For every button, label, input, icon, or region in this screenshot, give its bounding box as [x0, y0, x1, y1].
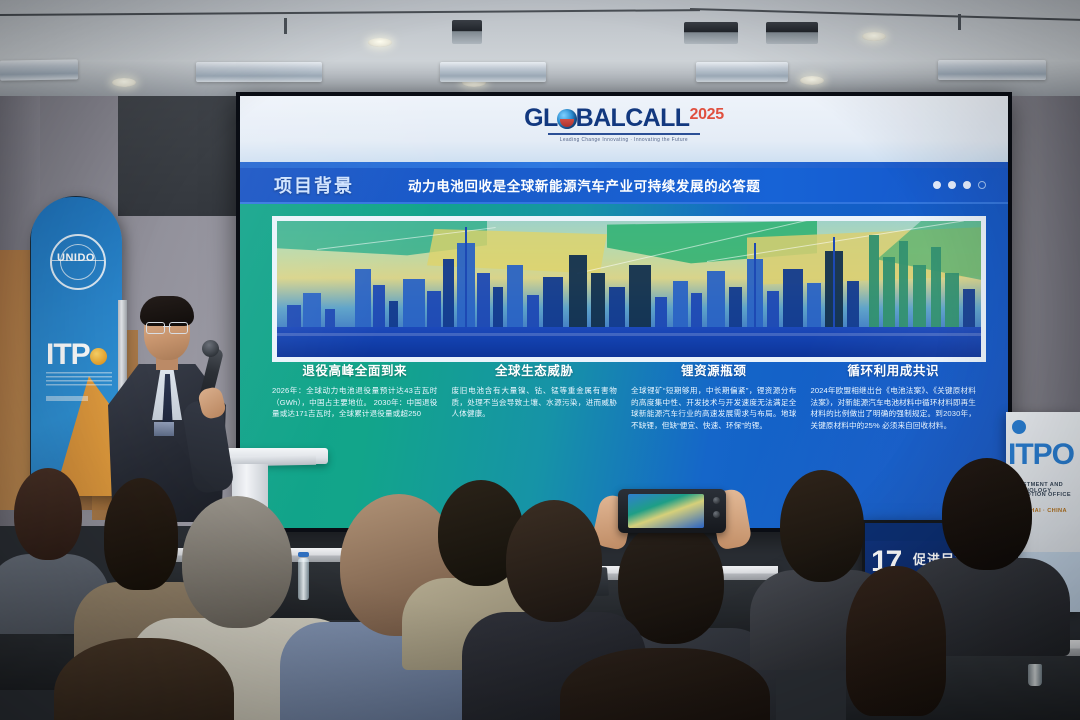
- audience-head: [14, 468, 82, 560]
- column-body: 2024年欧盟相继出台《电池法案》、《关键原材料法案》，对新能源汽车电池材料中循…: [807, 385, 981, 431]
- building: [507, 265, 523, 331]
- building: [609, 287, 625, 331]
- audience-head: [54, 638, 234, 720]
- drinking-glass: [1028, 664, 1042, 686]
- slide-headline: 动力电池回收是全球新能源汽车产业可持续发展的必答题: [408, 175, 761, 195]
- column-body: 全球锂矿“短期够用，中长期偏紧”，锂资源分布的高度集中性、开发技术与开发速度无法…: [627, 385, 801, 431]
- logo-text-right: BALCALL: [576, 106, 690, 131]
- phone-screen: [628, 494, 704, 528]
- air-vent: [0, 59, 78, 80]
- page-dot-1: [933, 181, 941, 189]
- spotlight-icon: [452, 20, 482, 44]
- building: [443, 259, 454, 331]
- antenna: [833, 237, 835, 331]
- slide-body: 退役高峰全面到来 2026年：全球动力电池退役量预计达43吉瓦时（GWh），中国…: [240, 204, 1008, 528]
- audience-head: [846, 566, 946, 716]
- column-heading: 退役高峰全面到来: [268, 360, 442, 379]
- presentation-screen: GLBALCALL2025 Leading Change Innovating …: [236, 92, 1012, 532]
- audience-head: [182, 496, 292, 628]
- glasses-icon: [146, 322, 188, 332]
- camera-lens-icon: [713, 497, 720, 504]
- city-skyline-illustration: [277, 221, 981, 357]
- globe-icon: [557, 109, 577, 129]
- building: [355, 269, 371, 331]
- column-body: 废旧电池含有大量镍、钴、锰等重金属有害物质，处理不当会导致土壤、水源污染，进而威…: [448, 385, 622, 420]
- pagination-dots: [933, 181, 986, 189]
- audience-member: [846, 566, 976, 720]
- air-vent: [196, 62, 322, 82]
- building: [527, 295, 539, 331]
- page-dot-4: [978, 181, 986, 189]
- antenna: [754, 243, 756, 331]
- spotlight-icon: [766, 22, 818, 44]
- downlight-icon: [368, 38, 392, 47]
- slide-columns: 退役高峰全面到来 2026年：全球动力电池退役量预计达43吉瓦时（GWh），中国…: [268, 360, 980, 431]
- slide: GLBALCALL2025 Leading Change Innovating …: [240, 96, 1008, 528]
- building: [767, 291, 779, 331]
- slide-column-1: 退役高峰全面到来 2026年：全球动力电池退役量预计达43吉瓦时（GWh），中国…: [268, 360, 442, 431]
- building: [427, 291, 441, 331]
- hero-image-frame: [272, 216, 986, 362]
- building: [543, 277, 563, 331]
- slide-title-bar: 项目背景 动力电池回收是全球新能源汽车产业可持续发展的必答题: [240, 168, 1008, 202]
- slide-column-2: 全球生态威胁 废旧电池含有大量镍、钴、锰等重金属有害物质，处理不当会导致土壤、水…: [448, 360, 622, 431]
- wall-dark-panel: [118, 96, 250, 216]
- audience-head: [560, 648, 770, 720]
- building: [847, 281, 859, 331]
- logo-rule: [548, 133, 700, 135]
- audience-member: [560, 648, 760, 720]
- antenna: [465, 227, 467, 331]
- building: [899, 241, 908, 331]
- building: [869, 235, 879, 331]
- spotlight-icon: [684, 22, 738, 44]
- slide-column-3: 锂资源瓶颈 全球锂矿“短期够用，中长期偏紧”，锂资源分布的高度集中性、开发技术与…: [627, 360, 801, 431]
- building: [707, 271, 725, 331]
- track-stub: [958, 14, 961, 30]
- building: [477, 273, 490, 331]
- column-body: 2026年：全球动力电池退役量预计达43吉瓦时（GWh），中国占主要地位。 20…: [268, 385, 442, 420]
- screenshot-stage: GLBALCALL2025 Leading Change Innovating …: [0, 0, 1080, 720]
- building: [691, 293, 702, 331]
- page-dot-3: [963, 181, 971, 189]
- page-dot-2: [948, 181, 956, 189]
- building: [783, 269, 803, 331]
- downlight-icon: [112, 78, 136, 87]
- building: [655, 297, 667, 331]
- building: [569, 255, 587, 331]
- downlight-icon: [800, 76, 824, 85]
- logo-text-left: GL: [524, 106, 558, 131]
- audience-head: [942, 458, 1032, 570]
- downlight-icon: [862, 32, 886, 41]
- building: [303, 293, 321, 331]
- building: [883, 257, 895, 331]
- building: [963, 289, 975, 331]
- building: [373, 285, 385, 331]
- slide-column-4: 循环利用成共识 2024年欧盟相继出台《电池法案》、《关键原材料法案》，对新能源…: [807, 360, 981, 431]
- building: [945, 273, 959, 331]
- building: [403, 279, 425, 331]
- itpo-dot-icon: [1012, 420, 1026, 434]
- camera-lens-icon: [713, 511, 720, 518]
- audience-head: [506, 500, 602, 622]
- building: [807, 283, 821, 331]
- building: [629, 265, 651, 331]
- air-vent: [938, 60, 1046, 80]
- building: [729, 287, 742, 331]
- building: [913, 265, 926, 331]
- building: [931, 247, 941, 331]
- column-heading: 循环利用成共识: [807, 360, 981, 379]
- city-foreground: [277, 327, 981, 357]
- track-stub: [284, 18, 287, 34]
- air-vent: [440, 62, 546, 82]
- slide-logo-band: GLBALCALL2025 Leading Change Innovating …: [240, 96, 1008, 162]
- speaker-badge: [154, 422, 174, 436]
- building: [673, 281, 688, 331]
- logo-year: 2025: [689, 106, 723, 123]
- section-title: 项目背景: [274, 172, 354, 198]
- column-heading: 锂资源瓶颈: [627, 360, 801, 379]
- smartphone-camera[interactable]: [618, 489, 726, 533]
- building: [493, 287, 503, 331]
- logo-tagline: Leading Change Innovating · Innovating t…: [524, 137, 724, 143]
- building: [591, 273, 605, 331]
- audience-member: [54, 638, 224, 720]
- air-vent: [696, 62, 788, 82]
- column-heading: 全球生态威胁: [448, 360, 622, 379]
